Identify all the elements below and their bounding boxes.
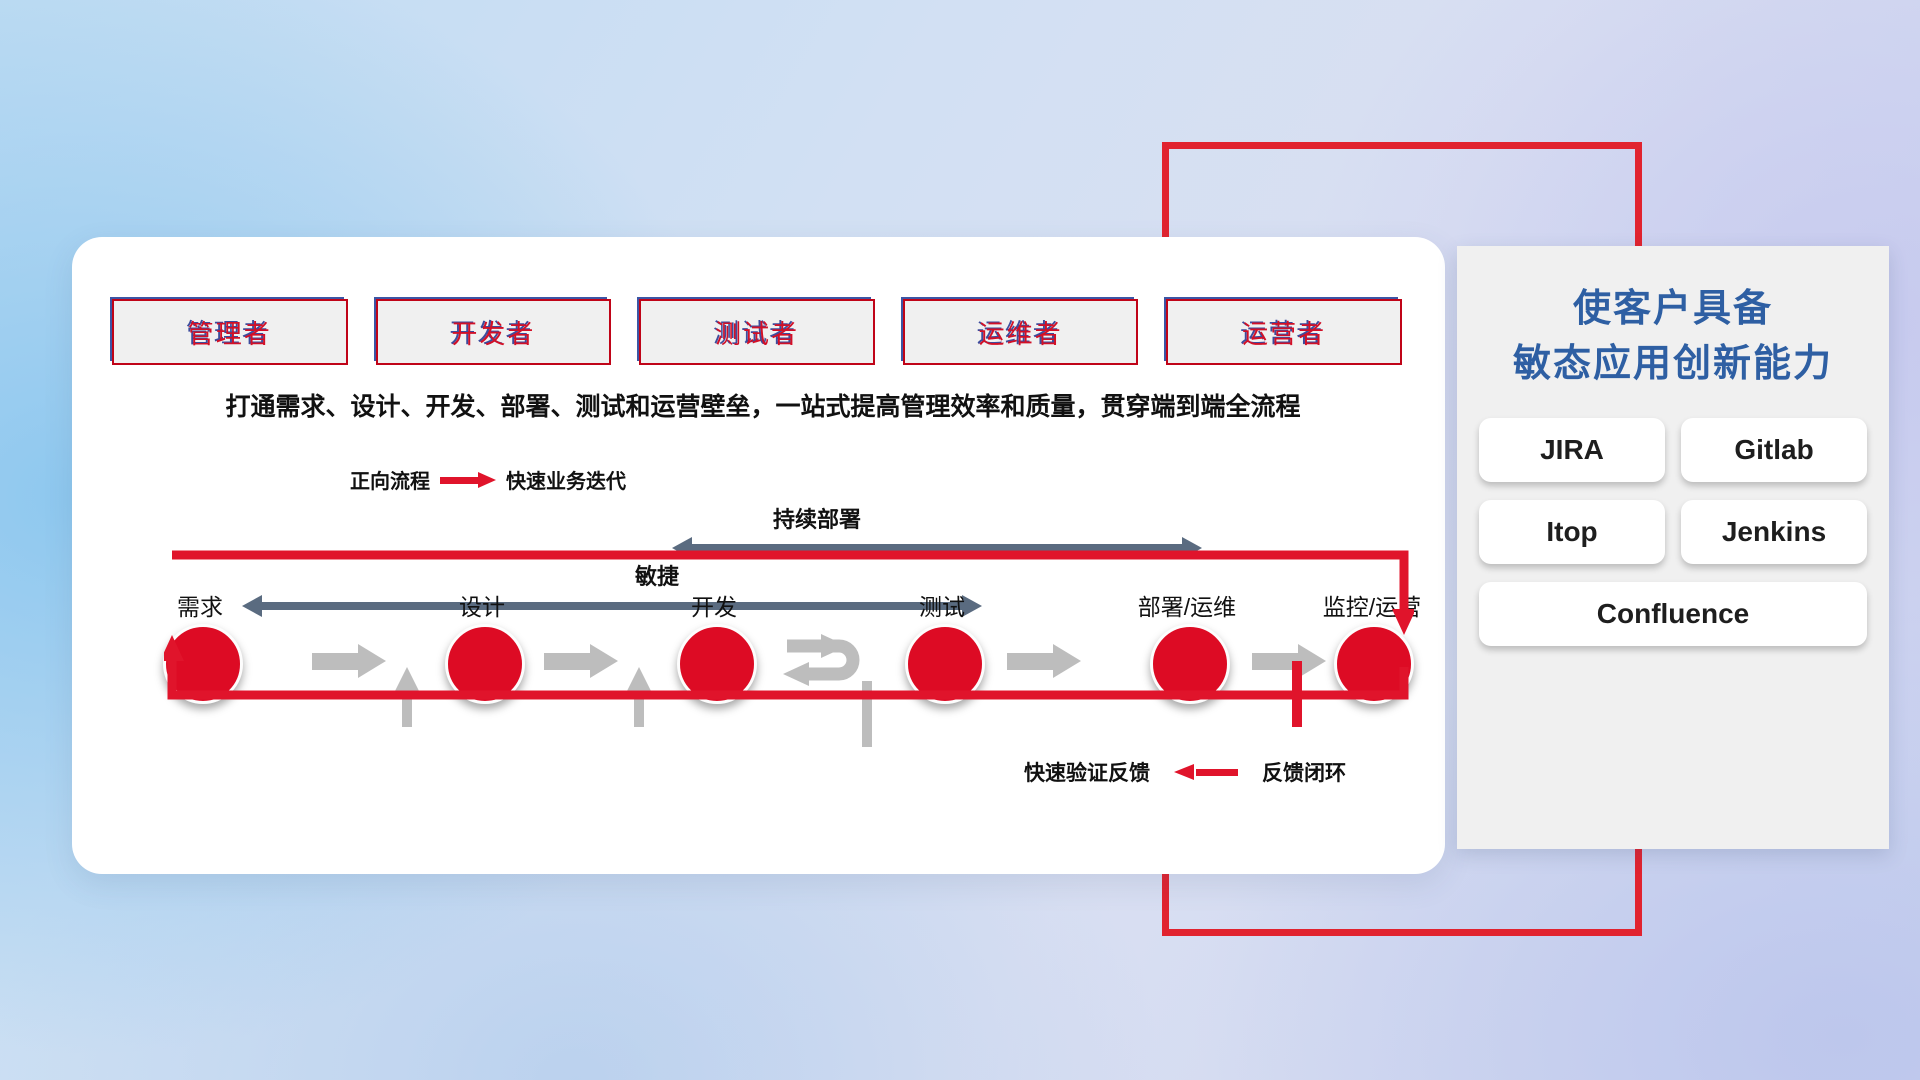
arrow-right-icon (440, 472, 496, 488)
role-label: 开发者 (451, 314, 535, 351)
arrow-left-icon (1174, 764, 1238, 780)
outcome-title-line-2: 敏态应用创新能力 (1457, 337, 1889, 392)
tool-chip-gitlab[interactable]: Gitlab (1681, 418, 1867, 482)
role-label: 运营者 (1242, 314, 1326, 351)
outcome-title-line-1: 使客户具备 (1457, 282, 1889, 337)
tool-chip-confluence[interactable]: Confluence (1479, 582, 1867, 646)
red-feedback-loop (164, 517, 1414, 707)
forward-flow-left-label: 正向流程 (350, 465, 430, 494)
tool-chip-itop[interactable]: Itop (1479, 500, 1665, 564)
role-box-operator[interactable]: 运营者 (1166, 299, 1402, 365)
main-card: 管理者 开发者 测试者 运维者 运营者 打通需求、设计、开发、部署、测试和运营壁… (72, 237, 1445, 874)
outcome-panel-title: 使客户具备 敏态应用创新能力 (1457, 282, 1889, 392)
outcome-panel: 使客户具备 敏态应用创新能力 JIRA Gitlab Itop Jenkins … (1457, 246, 1889, 849)
feedback-right-label: 反馈闭环 (1262, 757, 1346, 787)
role-label: 测试者 (715, 314, 799, 351)
role-box-manager[interactable]: 管理者 (112, 299, 348, 365)
tool-chip-jira[interactable]: JIRA (1479, 418, 1665, 482)
role-box-ops[interactable]: 运维者 (903, 299, 1139, 365)
role-boxes: 管理者 开发者 测试者 运维者 运营者 (112, 299, 1402, 365)
tool-chip-list: JIRA Gitlab Itop Jenkins Confluence (1479, 418, 1867, 646)
card-description: 打通需求、设计、开发、部署、测试和运营壁垒，一站式提高管理效率和质量，贯穿端到端… (118, 387, 1408, 423)
feedback-left-label: 快速验证反馈 (1024, 757, 1150, 787)
role-label: 管理者 (188, 314, 272, 351)
tool-chip-jenkins[interactable]: Jenkins (1681, 500, 1867, 564)
forward-flow-right-label: 快速业务迭代 (506, 465, 626, 494)
role-label: 运维者 (979, 314, 1063, 351)
feedback-annotation: 快速验证反馈 反馈闭环 (1024, 757, 1346, 787)
role-box-developer[interactable]: 开发者 (376, 299, 612, 365)
role-box-tester[interactable]: 测试者 (639, 299, 875, 365)
forward-flow-annotation: 正向流程 快速业务迭代 (350, 465, 626, 494)
